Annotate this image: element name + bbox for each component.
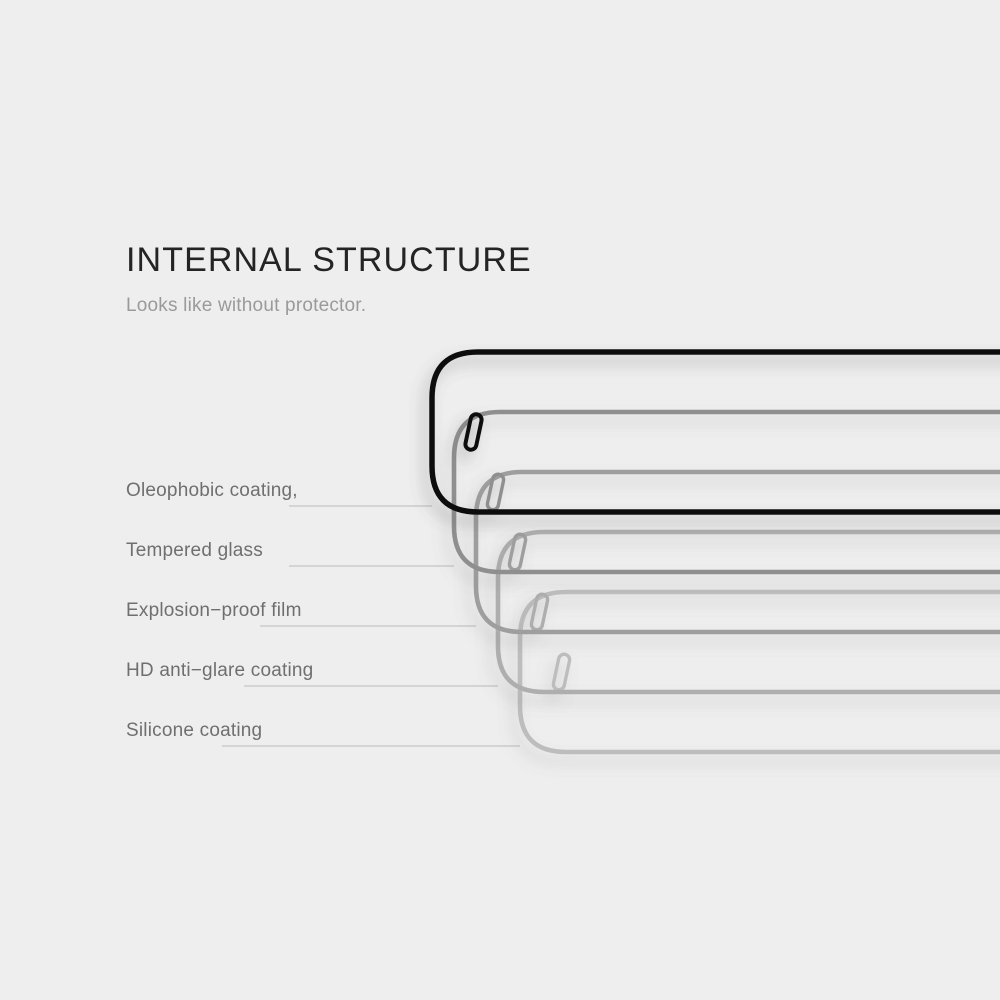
layer-label-1: Oleophobic coating,	[126, 479, 298, 503]
protector-sheet-outline	[454, 412, 1000, 572]
earpiece-slot-cutout	[464, 413, 482, 451]
page-subtitle: Looks like without protector.	[126, 294, 826, 318]
earpiece-slot-cutout	[508, 533, 526, 571]
leader-line-group	[222, 506, 520, 746]
protector-layer-2	[454, 412, 1000, 572]
layer-label-3: Explosion−proof film	[126, 599, 302, 623]
protector-sheet-outline	[520, 592, 1000, 752]
protector-layer-5	[520, 592, 1000, 752]
protector-layer-group	[432, 352, 1000, 752]
product-infographic-canvas: INTERNAL STRUCTURE Looks like without pr…	[0, 0, 1000, 1000]
protector-sheet-outline	[476, 472, 1000, 632]
protector-sheet-outline	[432, 352, 1000, 512]
page-title: INTERNAL STRUCTURE	[126, 240, 826, 280]
protector-sheet-outline	[498, 532, 1000, 692]
protector-layer-4	[498, 532, 1000, 692]
earpiece-slot-cutout	[530, 593, 548, 631]
heading-block: INTERNAL STRUCTURE Looks like without pr…	[126, 240, 826, 318]
earpiece-slot-cutout	[552, 653, 570, 691]
layer-label-5: Silicone coating	[126, 719, 262, 743]
layer-label-2: Tempered glass	[126, 539, 263, 563]
protector-layer-3	[476, 472, 1000, 632]
earpiece-slot-cutout	[486, 473, 504, 511]
layer-label-4: HD anti−glare coating	[126, 659, 313, 683]
protector-layer-1	[432, 352, 1000, 512]
